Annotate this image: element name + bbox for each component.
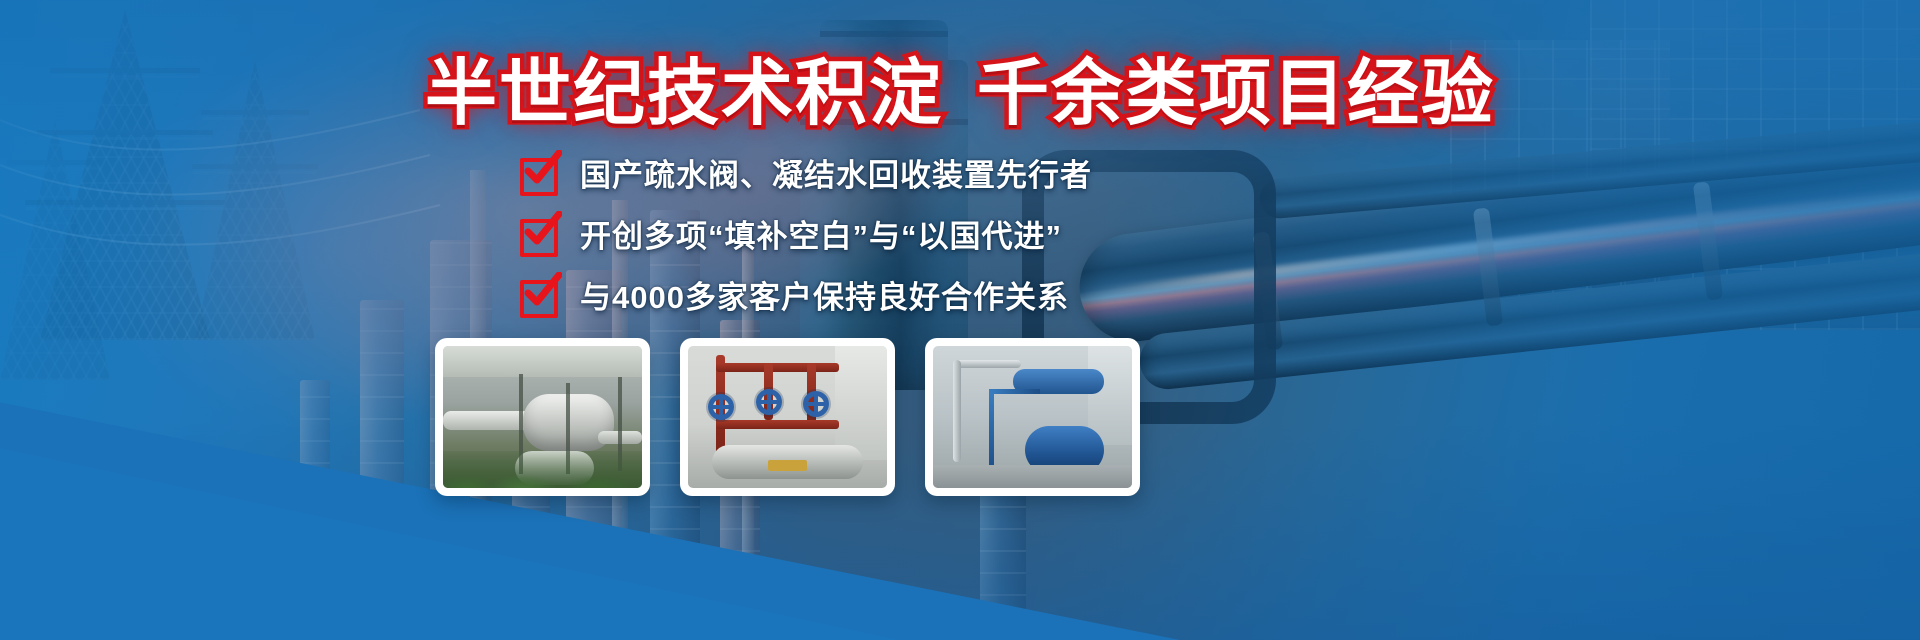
- bullet-text-3: 与4000多家客户保持良好合作关系: [580, 272, 1069, 317]
- photo-card-3-image: [933, 346, 1132, 488]
- banner-content: 半世纪技术积淀千余类项目经验 国产疏水阀、凝结水回收装置先行者: [0, 0, 1920, 640]
- photo-card-1-image: [443, 346, 642, 488]
- bullet-item-3: 与4000多家客户保持良好合作关系: [520, 272, 1092, 317]
- banner-bullet-list: 国产疏水阀、凝结水回收装置先行者 开创多项“填补空白”与“以国代进”: [520, 150, 1092, 317]
- photo-card-1[interactable]: [435, 338, 650, 496]
- headline-part-1: 半世纪技术积淀: [425, 54, 943, 134]
- photo-card-2-image: [688, 346, 887, 488]
- checkbox-checked-icon: [520, 215, 558, 253]
- promo-banner: 半世纪技术积淀千余类项目经验 国产疏水阀、凝结水回收装置先行者: [0, 0, 1920, 640]
- bullet-item-1: 国产疏水阀、凝结水回收装置先行者: [520, 150, 1092, 195]
- photo-card-2[interactable]: [680, 338, 895, 496]
- bullet-text-2: 开创多项“填补空白”与“以国代进”: [580, 211, 1062, 256]
- checkbox-checked-icon: [520, 276, 558, 314]
- headline-part-2: 千余类项目经验: [977, 54, 1495, 134]
- banner-headline: 半世纪技术积淀千余类项目经验: [0, 34, 1920, 139]
- checkbox-checked-icon: [520, 154, 558, 192]
- photo-card-row: [435, 338, 1140, 496]
- bullet-text-1: 国产疏水阀、凝结水回收装置先行者: [580, 150, 1092, 195]
- bullet-item-2: 开创多项“填补空白”与“以国代进”: [520, 211, 1092, 256]
- photo-card-3[interactable]: [925, 338, 1140, 496]
